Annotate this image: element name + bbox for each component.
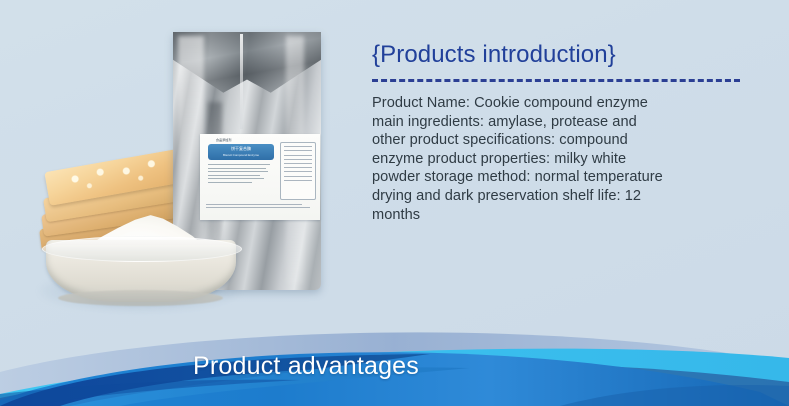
label-title-cn: 饼干复合酶 — [208, 146, 274, 152]
glass-bowl-base — [58, 290, 223, 306]
glass-bowl-rim — [42, 236, 242, 262]
dashed-divider — [372, 79, 740, 82]
product-photo: 食品添加剂 饼干复合酶 Biscuit Compound Enzyme — [18, 22, 358, 322]
product-description: Product Name: Cookie compound enzyme mai… — [372, 94, 672, 224]
banner-title: Product advantages — [193, 352, 419, 381]
label-category: 食品添加剂 — [216, 138, 232, 142]
page-title: {Products introduction} — [372, 40, 742, 69]
pouch-label: 食品添加剂 饼干复合酶 Biscuit Compound Enzyme — [200, 134, 320, 220]
label-title-en: Biscuit Compound Enzyme — [208, 153, 274, 157]
label-title-badge: 饼干复合酶 Biscuit Compound Enzyme — [208, 144, 274, 160]
pouch-seam — [240, 34, 243, 129]
label-ingredient-lines — [208, 164, 274, 186]
products-introduction-panel: {Products introduction} Product Name: Co… — [372, 40, 742, 224]
promo-banner-page: 食品添加剂 饼干复合酶 Biscuit Compound Enzyme {Pro… — [0, 0, 789, 406]
label-spec-table — [280, 142, 316, 200]
label-footer-lines — [206, 204, 314, 211]
